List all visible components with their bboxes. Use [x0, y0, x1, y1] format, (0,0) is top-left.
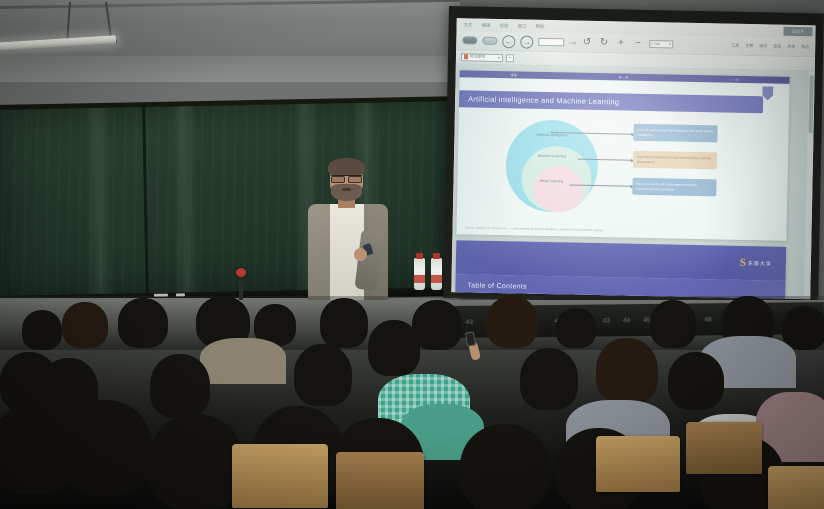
- sidebar-toggle-button[interactable]: [462, 36, 477, 44]
- lecturer-hair: [328, 158, 365, 176]
- logo-text: 东南大学: [748, 260, 772, 267]
- ceiling: [0, 0, 460, 62]
- callout-ml: Algorithms that learn from data without …: [633, 151, 717, 170]
- student-head: [460, 424, 550, 509]
- student-head: [294, 344, 352, 406]
- slide-header-item: 课程: [510, 72, 517, 77]
- lecturer-hand: [354, 248, 367, 261]
- chevron-down-icon: ▾: [498, 55, 500, 60]
- menu-item-edit[interactable]: 编辑: [482, 22, 491, 28]
- wall-upper: [0, 56, 460, 82]
- student-head: [520, 348, 578, 410]
- glasses-icon: [331, 175, 362, 180]
- toolbar-share-label[interactable]: 共享: [787, 44, 795, 50]
- student-head: [596, 338, 658, 404]
- student-head: [22, 310, 62, 350]
- slide-title: Artificial intelligence and Machine Lear…: [468, 94, 619, 106]
- chevron-down-icon: ▾: [669, 42, 671, 46]
- chalkboard-sheen: [84, 108, 114, 298]
- menu-item-help[interactable]: 帮助: [536, 23, 545, 29]
- student-head: [368, 320, 420, 376]
- toolbar-export-label[interactable]: 导出: [801, 44, 809, 50]
- chair-back: [336, 452, 424, 509]
- toolbar-sign-label[interactable]: 签名: [773, 44, 781, 50]
- callout-ai: A set of machine learning techniques tha…: [633, 124, 717, 143]
- student-head: [150, 354, 210, 418]
- student-head: [320, 298, 368, 348]
- toolbar-tools-label[interactable]: 工具: [731, 43, 739, 49]
- chalkboard-divider: [142, 107, 149, 297]
- toolbar-fill-label[interactable]: 填写: [759, 43, 767, 49]
- projection-screen: 文件 编辑 视图 窗口 帮助 幻灯片 ← → / 48 ↺ ↻ + −: [443, 6, 824, 305]
- menu-item-view[interactable]: 视图: [500, 23, 509, 29]
- lecturer-mouth: [342, 188, 351, 191]
- menu-item-window[interactable]: 窗口: [518, 23, 527, 29]
- chair-back: [768, 466, 824, 509]
- water-bottle: [414, 258, 425, 290]
- chair-back: [596, 436, 680, 492]
- chair-back: [232, 444, 328, 508]
- pdf-page-slide-1: 课程 第一讲 1 / 48 Artificial intelligence an…: [456, 70, 789, 241]
- lecturer: [300, 160, 396, 310]
- lecture-hall-photo: 文件 编辑 视图 窗口 帮助 幻灯片 ← → / 48 ↺ ↻ + −: [0, 0, 824, 509]
- zoom-in-icon[interactable]: +: [615, 37, 627, 49]
- fluorescent-light-icon: [0, 35, 116, 50]
- scrollbar-thumb[interactable]: [809, 75, 814, 133]
- lecturer-beard: [331, 184, 362, 201]
- university-crest-icon: [762, 86, 773, 100]
- slide-header-bar: 课程 第一讲 1 / 48: [460, 70, 790, 84]
- annotation-color-value: 标注颜色: [470, 54, 485, 59]
- rotate-cw-icon[interactable]: ↻: [598, 37, 610, 49]
- projected-desktop: 文件 编辑 视图 窗口 帮助 幻灯片 ← → / 48 ↺ ↻ + −: [451, 18, 815, 299]
- active-tab-chip[interactable]: 幻灯片: [784, 27, 813, 37]
- rotate-ccw-icon[interactable]: ↺: [581, 37, 593, 49]
- student-head: [668, 352, 724, 410]
- chair-back: [686, 422, 762, 474]
- slide-title-band: Artificial intelligence and Machine Lear…: [459, 90, 763, 113]
- audience: [0, 296, 824, 509]
- microphone-icon: [236, 268, 246, 277]
- student-head: [148, 414, 244, 509]
- thumbnail-toggle-button[interactable]: [482, 37, 497, 45]
- page-total-label: / 48: [569, 40, 576, 45]
- menu-item-file[interactable]: 文件: [464, 22, 473, 28]
- page-number-input[interactable]: [538, 38, 564, 47]
- student-head: [58, 400, 152, 496]
- toolbar-right-group: 工具 注释 填写 签名 共享 导出: [731, 43, 809, 51]
- logo-mark: S: [740, 258, 746, 269]
- water-bottle: [431, 258, 442, 290]
- zoom-out-icon[interactable]: −: [632, 38, 644, 50]
- student-head: [782, 306, 824, 350]
- toolbar-comment-label[interactable]: 注释: [745, 43, 753, 49]
- callout-dl: Neural networks with many layers that le…: [632, 178, 716, 197]
- menubar-spacer: [554, 27, 775, 31]
- color-swatch-icon: [464, 54, 468, 59]
- university-logo: S 东南大学: [740, 258, 772, 270]
- slide-header-item: 1 / 48: [730, 77, 739, 81]
- zoom-level-select[interactable]: 173% ▾: [649, 40, 673, 48]
- toolbar-spacer: [678, 45, 726, 46]
- annotation-color-select[interactable]: 标注颜色 ▾: [461, 53, 503, 62]
- slide2-title: Table of Contents: [467, 282, 527, 290]
- chalkboard-sheen: [170, 106, 200, 296]
- pdf-page-slide-2: S 东南大学 Table of Contents: [454, 240, 786, 299]
- add-annotation-button[interactable]: +: [506, 54, 514, 62]
- back-arrow-icon[interactable]: ←: [502, 35, 515, 48]
- slide-header-item: 第一讲: [618, 74, 628, 79]
- student-head: [62, 302, 108, 348]
- zoom-level-value: 173%: [651, 42, 660, 46]
- student-head: [118, 298, 168, 348]
- vertical-scrollbar[interactable]: [804, 71, 815, 299]
- student-head: [486, 296, 538, 348]
- pdf-document-canvas[interactable]: 课程 第一讲 1 / 48 Artificial intelligence an…: [451, 64, 815, 299]
- forward-arrow-icon[interactable]: →: [520, 35, 533, 48]
- slide-footnote: Source : Image from medium.com — a short…: [466, 226, 778, 235]
- student-head: [556, 308, 596, 348]
- student-head: [650, 300, 696, 348]
- student-shoulders: [200, 338, 286, 384]
